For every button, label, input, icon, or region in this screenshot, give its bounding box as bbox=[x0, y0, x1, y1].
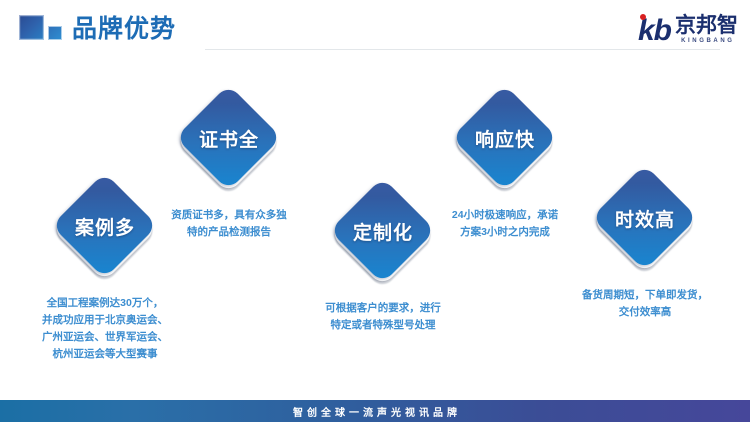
feature-caption: 全国工程案例达30万个， 并成功应用于北京奥运会、 广州亚运会、世界军运会、 杭… bbox=[0, 295, 210, 363]
header-divider bbox=[205, 49, 720, 50]
slide-canvas: 品牌优势 kb 京邦智 KINGBANG 案例多 全国工程案例达30万个， 并成… bbox=[0, 0, 750, 422]
page-title: 品牌优势 bbox=[72, 13, 176, 45]
feature-caption: 备货周期短，下单即发货， 交付效率高 bbox=[540, 287, 750, 321]
logo-red-dot-icon bbox=[640, 14, 646, 20]
diamond-badge: 时效高 bbox=[592, 165, 698, 271]
logo-mark-kb: kb bbox=[638, 16, 671, 46]
footer-slogan: 智创全球一流声光视讯品牌 bbox=[293, 404, 461, 419]
header-square-small-icon bbox=[48, 26, 62, 40]
diamond-badge: 证书全 bbox=[176, 85, 282, 191]
diamond-label: 证书全 bbox=[176, 85, 282, 191]
feature-item: 时效高 备货周期短，下单即发货， 交付效率高 bbox=[540, 165, 750, 321]
feature-caption: 可根据客户的要求，进行 特定或者特殊型号处理 bbox=[278, 300, 488, 334]
logo-english-name: KINGBANG bbox=[681, 37, 734, 45]
slide-footer: 智创全球一流声光视讯品牌 bbox=[0, 400, 750, 422]
slide-header: 品牌优势 kb 京邦智 KINGBANG bbox=[0, 0, 750, 58]
header-square-large-icon bbox=[19, 15, 44, 40]
diamond-label: 时效高 bbox=[592, 165, 698, 271]
logo-chinese-name: 京邦智 bbox=[675, 15, 738, 37]
logo-wordmark: 京邦智 KINGBANG bbox=[675, 15, 738, 46]
brand-logo: kb 京邦智 KINGBANG bbox=[638, 12, 738, 46]
